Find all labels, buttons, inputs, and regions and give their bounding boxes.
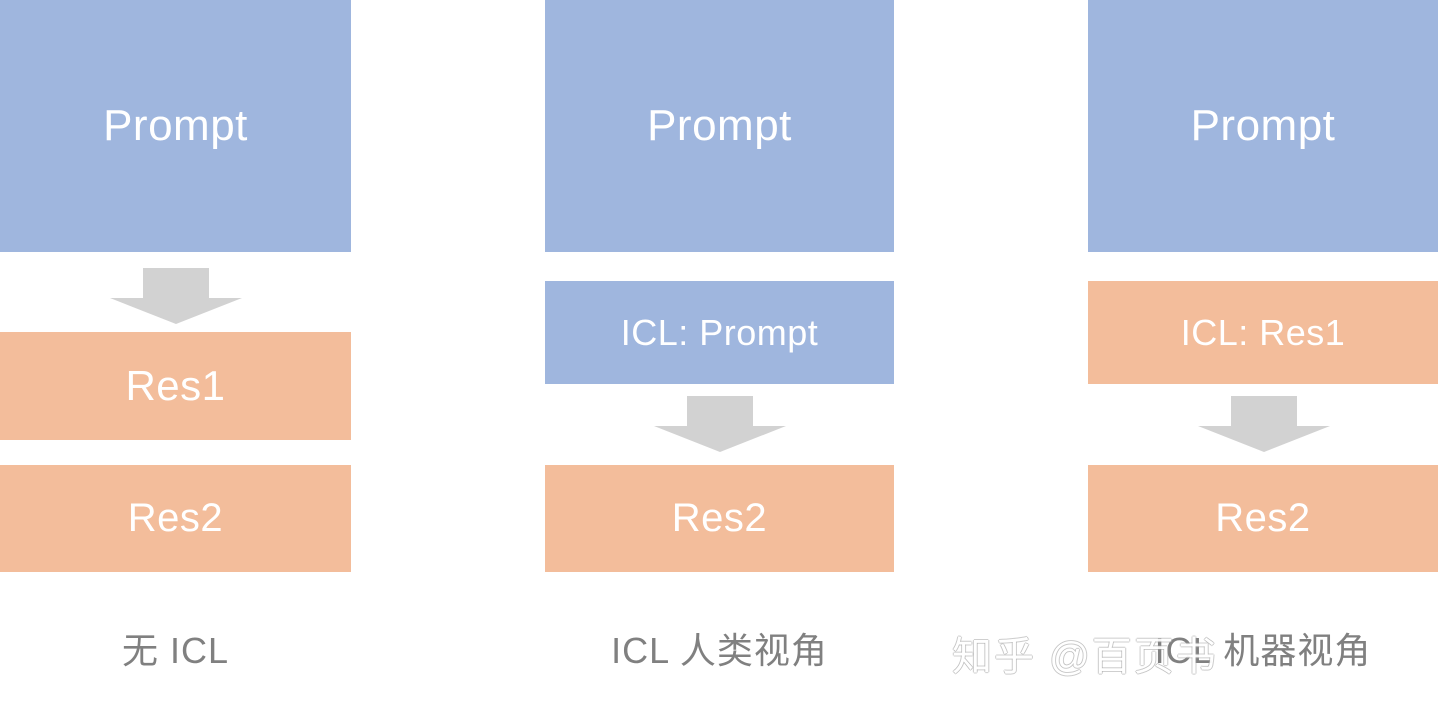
down-arrow-icon <box>110 268 242 324</box>
box-res1: Res1 <box>0 332 351 440</box>
box-label: ICL: Prompt <box>621 312 819 354</box>
box-prompt: Prompt <box>545 0 894 252</box>
box-prompt: Prompt <box>0 0 351 252</box>
box-prompt: Prompt <box>1088 0 1438 252</box>
box-res2: Res2 <box>1088 465 1438 572</box>
down-arrow-icon <box>654 396 786 452</box>
column-caption-no-icl: 无 ICL <box>0 622 351 674</box>
column-caption-icl-human-view: ICL 人类视角 <box>545 622 894 674</box>
box-label: Res2 <box>128 496 223 541</box>
box-label: Prompt <box>103 101 248 151</box>
box-label: Prompt <box>647 101 792 151</box>
box-icl-res1: ICL: Res1 <box>1088 281 1438 384</box>
column-no-icl: Prompt Res1 Res2 无 ICL <box>0 0 351 707</box>
column-caption-icl-machine-view: ICL 机器视角 <box>1088 622 1438 674</box>
box-label: Prompt <box>1191 101 1336 151</box>
down-arrow-icon <box>1198 396 1330 452</box>
box-label: Res1 <box>125 362 225 410</box>
diagram-canvas: Prompt Res1 Res2 无 ICL Prompt ICL: Promp… <box>0 0 1440 707</box>
box-label: Res2 <box>1215 496 1310 541</box>
column-icl-human-view: Prompt ICL: Prompt Res2 ICL 人类视角 <box>545 0 894 707</box>
box-icl-prompt: ICL: Prompt <box>545 281 894 384</box>
box-label: ICL: Res1 <box>1181 312 1346 354</box>
column-icl-machine-view: Prompt ICL: Res1 Res2 ICL 机器视角 <box>1088 0 1438 707</box>
box-res2: Res2 <box>545 465 894 572</box>
box-label: Res2 <box>672 496 767 541</box>
box-res2: Res2 <box>0 465 351 572</box>
